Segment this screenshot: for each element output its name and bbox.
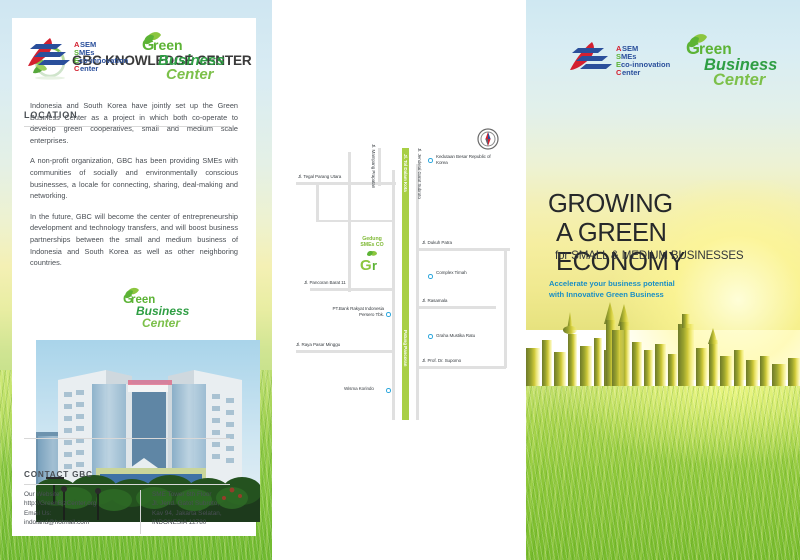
address-line-1: SME Tower 6th Floor <box>152 490 262 499</box>
website-url[interactable]: http://GreenBizCenter.org <box>24 499 134 508</box>
right-header-logos: A SEM S MEs E co-innovation C enter G re… <box>548 32 778 86</box>
email-address[interactable]: indoland@hotmail.com <box>24 518 134 527</box>
map-poi-label: Graha Mustika Ratu <box>436 333 475 339</box>
left-white-card: GBC KNOWLEDGE CENTER Indonesia and South… <box>12 18 256 536</box>
green-business-center-logo: G reen Business Center <box>120 286 206 328</box>
map-poi-label: Kedutaan Besar Republic of Korea <box>436 154 496 165</box>
contact-divider-2 <box>24 484 230 485</box>
map-street-label-vertical: Jl. Jenderal Gatot Subroto <box>416 148 422 199</box>
map-marker[interactable] <box>386 388 391 393</box>
address-line-2: Jl. Jend. Gatot Subroto, <box>152 499 262 508</box>
gedung-line2: SMEs CO <box>360 242 383 248</box>
map-street-label: Jl. Pancoran Barat 11 <box>304 280 346 286</box>
brochure-canvas: GBC KNOWLEDGE CENTER Indonesia and South… <box>0 0 800 560</box>
green-business-center-logo-center: G reen Business Center <box>136 30 232 80</box>
location-divider <box>24 126 230 127</box>
map-street-label: Jl. Rasamala <box>422 298 447 304</box>
map-street-label: Jl. Prof. Dr. Supomo <box>422 358 461 364</box>
map-marker[interactable] <box>428 274 433 279</box>
map-poi-label: PT.Bank Rakyat Indonesia Persero Tbk. <box>322 306 384 317</box>
panel-right: A SEM S MEs E co-innovation C enter G re… <box>526 0 800 560</box>
svg-text:reen: reen <box>153 37 183 53</box>
location-map[interactable]: Jl. Tegal Parang Utara Jl. Pancoran Bara… <box>296 140 518 420</box>
green-business-center-logo-right: G reen Business Center <box>680 32 784 86</box>
email-label: Email Us: <box>24 509 134 518</box>
city-skyline-silhouette <box>526 300 800 400</box>
contact-section-title: CONTACT GBC <box>24 470 93 479</box>
svg-text:enter: enter <box>622 68 640 77</box>
asem-sme-eco-innovation-logo: A SEM S MEs E co-innovation C enter <box>24 34 128 74</box>
contact-web-column: Our Website: http://GreenBizCenter.org E… <box>24 490 134 528</box>
headline: GROWING A GREEN ECONOMY <box>548 190 798 277</box>
headline-line-1: GROWING <box>548 190 673 218</box>
map-poi-label: Complex Timah <box>436 270 476 276</box>
asem-sme-eco-innovation-logo-right: A SEM S MEs E co-innovation C enter <box>566 38 670 78</box>
map-street-label-vertical: Jl. Mampang Prapatan <box>370 144 376 188</box>
map-marker[interactable] <box>428 334 433 339</box>
map-highway-label: Patung Pancoran <box>402 330 408 366</box>
logo-center-text: Center <box>142 316 181 328</box>
contact-separator <box>140 490 141 534</box>
paragraph-3: In the future, GBC will become the cente… <box>30 211 238 269</box>
gedung-line1: Gedung <box>362 236 382 242</box>
svg-text:Center: Center <box>166 66 215 80</box>
right-grass-background <box>526 386 800 560</box>
headline-line-2: A GREEN ECONOMY <box>548 219 798 277</box>
address-line-4: INDONESIA 12780 <box>152 518 262 527</box>
gr-leaf-icon: G r <box>354 250 390 274</box>
location-section-title: LOCATION <box>24 110 78 120</box>
center-header-logos: A SEM S MEs E co-innovation C enter G re… <box>24 30 236 86</box>
map-street-label: Jl. Raya Pasar Minggu <box>296 342 340 348</box>
svg-text:Center: Center <box>713 71 767 86</box>
contact-address-column: SME Tower 6th Floor Jl. Jend. Gatot Subr… <box>152 490 262 528</box>
map-highway-label: Jl. Tol Dalam Kota <box>402 154 408 192</box>
svg-text:G: G <box>360 257 372 274</box>
tagline-line-2: with Innovative Green Business <box>549 290 664 299</box>
tagline: Accelerate your business potential with … <box>549 278 675 301</box>
svg-text:enter: enter <box>80 64 98 73</box>
map-marker[interactable] <box>428 158 433 163</box>
paragraph-1: Indonesia and South Korea have jointly s… <box>30 100 238 146</box>
contact-divider <box>24 438 230 439</box>
svg-text:r: r <box>372 258 377 273</box>
tagline-line-1: Accelerate your business potential <box>549 279 675 288</box>
map-poi-label: Wisma Korindo <box>344 386 374 392</box>
map-street-label: Jl. Tegal Parang Utara <box>298 174 341 180</box>
website-label: Our Website: <box>24 490 134 499</box>
map-marker-gedung-smes-co[interactable]: Gedung SMEs CO G r <box>354 236 390 278</box>
address-line-3: Kav 94, Jakarta Selatan, <box>152 509 262 518</box>
map-street-label: Jl. Dukuh Patra <box>422 240 452 246</box>
subheadline: for SMALL & MEDIUM BUSINESSES <box>555 249 744 262</box>
paragraph-2: A non-profit organization, GBC has been … <box>30 155 238 201</box>
map-marker[interactable] <box>386 312 391 317</box>
svg-text:G: G <box>686 38 700 58</box>
